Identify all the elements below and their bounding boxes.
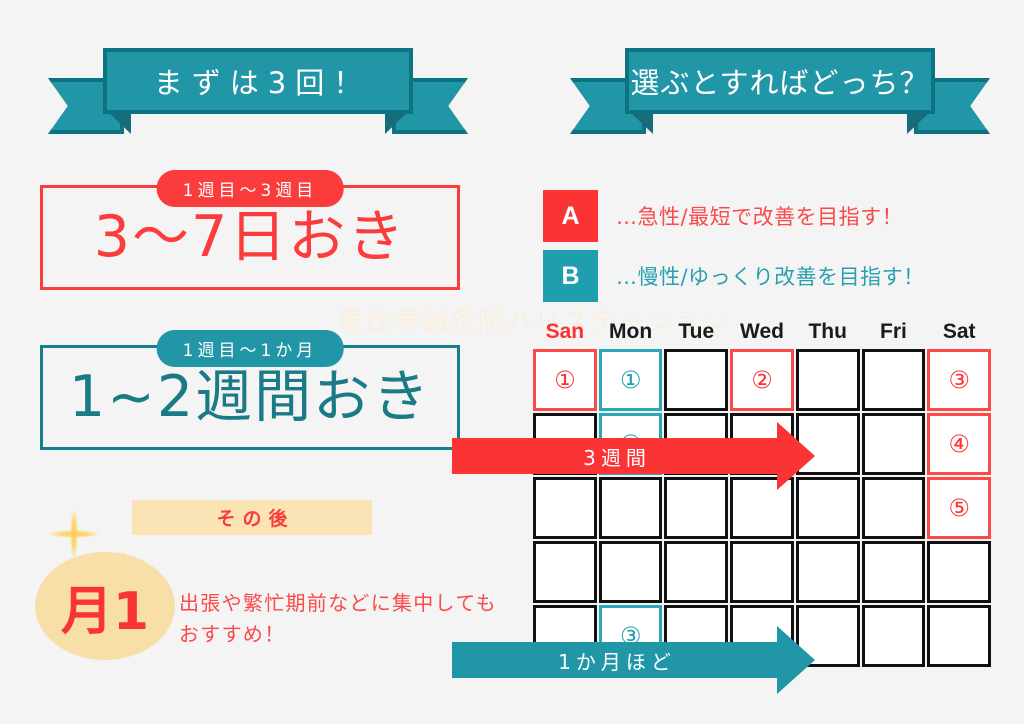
calendar-cell[interactable] (927, 541, 991, 603)
calendar-weekday-san: San (532, 320, 598, 344)
calendar-cell[interactable]: ③ (927, 349, 991, 411)
calendar-weekday-fri: Fri (861, 320, 927, 344)
calendar-rows: ①①②③②④⑤③ (532, 348, 992, 668)
duration-arrow-label-1month: 1か月ほど (452, 642, 777, 678)
calendar-cell[interactable] (796, 541, 860, 603)
calendar-cell[interactable] (533, 541, 597, 603)
schedule-box-phase2: 1週目〜1か月 1~2週間おき (40, 345, 460, 450)
legend-chip-b: B (543, 250, 598, 302)
calendar-cell[interactable] (664, 541, 728, 603)
ribbon-banner-right: 選ぶとすればどっち？ (570, 48, 990, 143)
calendar-cell[interactable]: ① (599, 349, 663, 411)
calendar-cell[interactable] (862, 541, 926, 603)
ribbon-label-left: まずは3回！ (145, 60, 371, 102)
calendar-weekday-wed: Wed (729, 320, 795, 344)
calendar-cell[interactable] (862, 413, 926, 475)
calendar-cell[interactable]: ② (730, 349, 794, 411)
duration-arrow-3weeks: 3週間 (452, 422, 815, 490)
duration-arrow-label-3weeks: 3週間 (452, 438, 777, 474)
calendar-cell[interactable] (599, 541, 663, 603)
calendar-cell[interactable] (730, 541, 794, 603)
calendar-weekday-header: SanMonTueWedThuFriSat (532, 320, 992, 344)
calendar-cell[interactable] (796, 349, 860, 411)
calendar-cell[interactable]: ① (533, 349, 597, 411)
legend-chip-a: A (543, 190, 598, 242)
monthly-frequency-badge: 月1 (35, 552, 175, 660)
calendar-cell[interactable]: ④ (927, 413, 991, 475)
legend-row-b: B …慢性/ゆっくり改善を目指す！ (543, 250, 925, 302)
calendar-cell[interactable] (862, 605, 926, 667)
after-heading-label: その後 (209, 504, 294, 531)
calendar-cell[interactable] (664, 349, 728, 411)
schedule-value-phase2: 1~2週間おき (69, 369, 431, 426)
after-note-text: 出張や繁忙期前などに集中してもおすすめ！ (179, 588, 499, 650)
calendar-weekday-mon: Mon (598, 320, 664, 344)
calendar-week-row: ①①②③ (532, 348, 992, 412)
calendar-weekday-tue: Tue (663, 320, 729, 344)
schedule-box-phase1: 1週目〜3週目 3〜7日おき (40, 185, 460, 290)
calendar: SanMonTueWedThuFriSat ①①②③②④⑤③ 3週間 1か月ほど (532, 320, 992, 668)
ribbon-banner-left: まずは3回！ (48, 48, 468, 143)
legend-row-a: A …急性/最短で改善を目指す！ (543, 190, 903, 242)
ribbon-band-left: まずは3回！ (103, 48, 413, 114)
ribbon-label-right: 選ぶとすればどっち？ (630, 60, 929, 102)
calendar-cell[interactable] (862, 349, 926, 411)
duration-arrow-1month: 1か月ほど (452, 626, 815, 694)
arrow-head-icon (777, 626, 815, 694)
monthly-frequency-label: 月1 (61, 569, 149, 644)
calendar-grid: ①①②③②④⑤③ 3週間 1か月ほど (532, 348, 992, 668)
calendar-week-row (532, 540, 992, 604)
calendar-cell[interactable] (862, 477, 926, 539)
infographic-canvas: 恵比寿鍼灸院ハリステーション まずは3回！ 選ぶとすればどっち？ 1週目〜3週目… (0, 0, 1024, 724)
calendar-cell[interactable] (927, 605, 991, 667)
ribbon-band-right: 選ぶとすればどっち？ (625, 48, 935, 114)
calendar-cell[interactable]: ⑤ (927, 477, 991, 539)
legend-text-b: …慢性/ゆっくり改善を目指す！ (616, 261, 925, 291)
arrow-head-icon (777, 422, 815, 490)
legend-text-a: …急性/最短で改善を目指す！ (616, 201, 903, 231)
after-heading-bar: その後 (132, 500, 372, 535)
schedule-value-phase1: 3〜7日おき (94, 209, 407, 266)
schedule-pill-phase2: 1週目〜1か月 (157, 330, 344, 367)
calendar-weekday-thu: Thu (795, 320, 861, 344)
schedule-pill-phase1: 1週目〜3週目 (157, 170, 344, 207)
calendar-weekday-sat: Sat (926, 320, 992, 344)
